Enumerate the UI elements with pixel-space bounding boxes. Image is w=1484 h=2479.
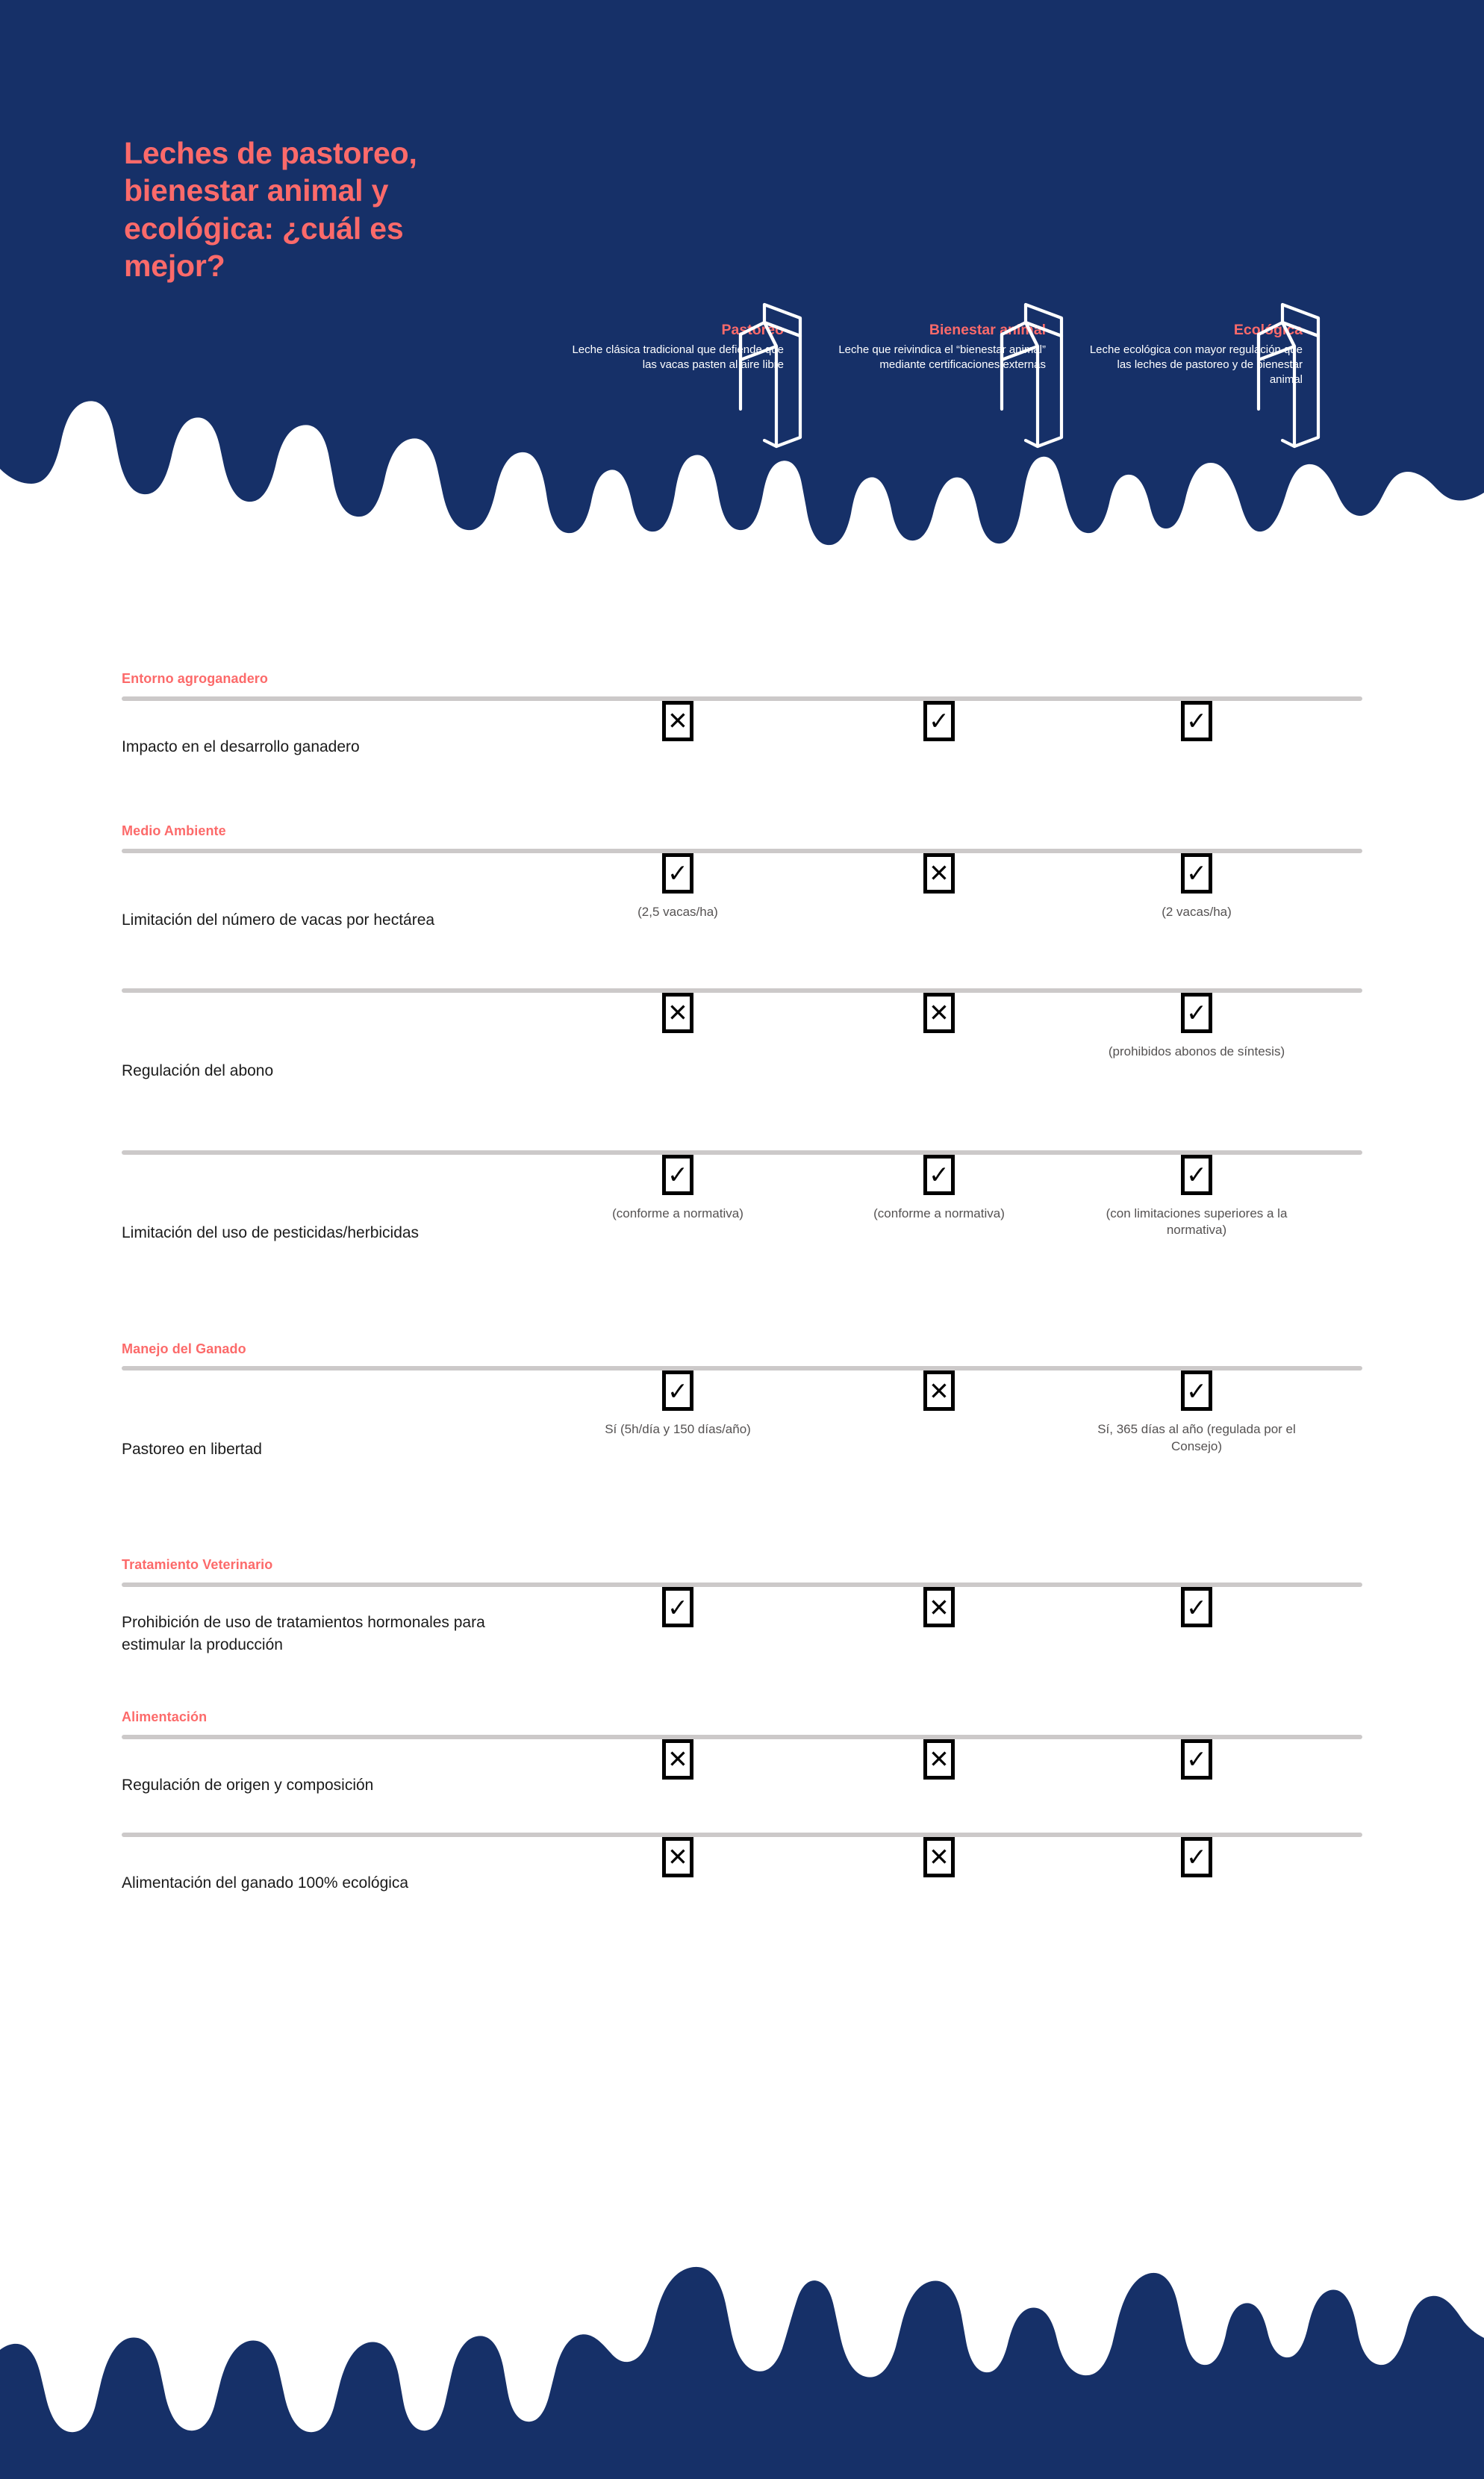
- checkbox-checked-icon: ✓: [1181, 1371, 1212, 1411]
- cell-pastoreo: ✓(conforme a normativa): [558, 1155, 797, 1223]
- checkbox-checked-icon: ✓: [1181, 993, 1212, 1033]
- row-label: Alimentación del ganado 100% ecológica: [122, 1873, 525, 1895]
- checkbox-checked-icon: ✓: [662, 1371, 693, 1411]
- milk-carton-icon: [1241, 297, 1324, 454]
- comparison-section: Manejo del GanadoPastoreo en libertad✓Sí…: [0, 1342, 1484, 1559]
- cell-pastoreo: ✓: [558, 1587, 797, 1627]
- row-label: Pastoreo en libertad: [122, 1438, 525, 1461]
- table-row-content: Limitación del uso de pesticidas/herbici…: [122, 1155, 1362, 1312]
- cell-bienestar-animal: ✓(conforme a normativa): [820, 1155, 1059, 1223]
- table-row: Limitación del uso de pesticidas/herbici…: [0, 1155, 1484, 1342]
- cell-note: (2,5 vacas/ha): [566, 904, 790, 921]
- checkbox-checked-icon: ✓: [1181, 1587, 1212, 1627]
- checkbox-checked-icon: ✓: [662, 1587, 693, 1627]
- table-row: Regulación del abono✕✕✓(prohibidos abono…: [0, 993, 1484, 1155]
- cell-ecológica: ✓(prohibidos abonos de síntesis): [1077, 993, 1316, 1061]
- cell-note: (conforme a normativa): [566, 1206, 790, 1223]
- cell-bienestar-animal: ✓: [820, 701, 1059, 741]
- comparison-section: Entorno agroganaderoImpacto en el desarr…: [0, 672, 1484, 824]
- cell-pastoreo: ✓(2,5 vacas/ha): [558, 853, 797, 921]
- section-spacer: [122, 1312, 1362, 1342]
- section-header: Alimentación: [0, 1710, 1484, 1739]
- checkbox-checked-icon: ✓: [662, 1155, 693, 1195]
- section-spacer: [122, 1930, 1362, 1960]
- cell-bienestar-animal: ✕: [820, 1371, 1059, 1411]
- table-row-content: Pastoreo en libertad✓Sí (5h/día y 150 dí…: [122, 1371, 1362, 1528]
- checkbox-cross-icon: ✕: [923, 1587, 955, 1627]
- cell-ecológica: ✓Sí, 365 días al año (regulada por el Co…: [1077, 1371, 1316, 1456]
- section-title: Tratamiento Veterinario: [122, 1558, 1362, 1573]
- row-label: Regulación de origen y composición: [122, 1775, 525, 1797]
- cell-pastoreo: ✕: [558, 701, 797, 741]
- section-spacer: [122, 1680, 1362, 1710]
- comparison-section: AlimentaciónRegulación de origen y compo…: [0, 1710, 1484, 1960]
- section-title: Entorno agroganadero: [122, 672, 1362, 687]
- cell-pastoreo: ✓Sí (5h/día y 150 días/año): [558, 1371, 797, 1438]
- row-label: Limitación del número de vacas por hectá…: [122, 909, 525, 932]
- checkbox-checked-icon: ✓: [1181, 1155, 1212, 1195]
- cell-ecológica: ✓: [1077, 701, 1316, 741]
- checkbox-cross-icon: ✕: [662, 1837, 693, 1877]
- section-spacer: [122, 794, 1362, 824]
- table-row: Pastoreo en libertad✓Sí (5h/día y 150 dí…: [0, 1371, 1484, 1558]
- cell-bienestar-animal: ✕: [820, 1587, 1059, 1627]
- section-header: Manejo del Ganado: [0, 1342, 1484, 1371]
- comparison-section: Tratamiento VeterinarioProhibición de us…: [0, 1558, 1484, 1710]
- cell-ecológica: ✓: [1077, 1739, 1316, 1780]
- milk-carton-icon: [984, 297, 1067, 454]
- table-row: Impacto en el desarrollo ganadero✕✓✓: [0, 701, 1484, 824]
- cell-note: Sí (5h/día y 150 días/año): [566, 1421, 790, 1438]
- cell-ecológica: ✓(2 vacas/ha): [1077, 853, 1316, 921]
- checkbox-cross-icon: ✕: [662, 1739, 693, 1780]
- hero-banner: Leches de pastoreo, bienestar animal y e…: [0, 0, 1484, 582]
- checkbox-checked-icon: ✓: [662, 853, 693, 894]
- table-row-content: Limitación del número de vacas por hectá…: [122, 853, 1362, 988]
- table-row: Limitación del número de vacas por hectá…: [0, 853, 1484, 993]
- milk-carton-icon: [723, 297, 806, 454]
- checkbox-cross-icon: ✕: [923, 1371, 955, 1411]
- table-row-content: Regulación de origen y composición✕✕✓: [122, 1739, 1362, 1833]
- table-row: Prohibición de uso de tratamientos hormo…: [0, 1587, 1484, 1710]
- cell-pastoreo: ✕: [558, 993, 797, 1033]
- checkbox-cross-icon: ✕: [923, 1837, 955, 1877]
- checkbox-checked-icon: ✓: [1181, 1837, 1212, 1877]
- row-label: Regulación del abono: [122, 1060, 525, 1082]
- section-title: Alimentación: [122, 1710, 1362, 1725]
- section-title: Medio Ambiente: [122, 824, 1362, 839]
- section-title: Manejo del Ganado: [122, 1342, 1362, 1357]
- checkbox-cross-icon: ✕: [923, 1739, 955, 1780]
- checkbox-checked-icon: ✓: [923, 1155, 955, 1195]
- section-spacer: [122, 1528, 1362, 1558]
- cell-note: (2 vacas/ha): [1085, 904, 1309, 921]
- row-label: Limitación del uso de pesticidas/herbici…: [122, 1222, 525, 1244]
- table-row-content: Prohibición de uso de tratamientos hormo…: [122, 1587, 1362, 1680]
- comparison-table: Entorno agroganaderoImpacto en el desarr…: [0, 672, 1484, 1960]
- checkbox-checked-icon: ✓: [1181, 1739, 1212, 1780]
- cell-note: (prohibidos abonos de síntesis): [1085, 1044, 1309, 1061]
- milk-drip-bottom-shape: [0, 2045, 1484, 2479]
- cell-ecológica: ✓(con limitaciones superiores a la norma…: [1077, 1155, 1316, 1240]
- checkbox-cross-icon: ✕: [923, 853, 955, 894]
- checkbox-checked-icon: ✓: [1181, 853, 1212, 894]
- section-header: Entorno agroganadero: [0, 672, 1484, 701]
- section-header: Tratamiento Veterinario: [0, 1558, 1484, 1587]
- cell-pastoreo: ✕: [558, 1837, 797, 1877]
- cell-ecológica: ✓: [1077, 1837, 1316, 1877]
- cell-bienestar-animal: ✕: [820, 853, 1059, 894]
- checkbox-cross-icon: ✕: [662, 993, 693, 1033]
- cell-note: (conforme a normativa): [827, 1206, 1051, 1223]
- cell-bienestar-animal: ✕: [820, 993, 1059, 1033]
- cell-bienestar-animal: ✕: [820, 1739, 1059, 1780]
- cell-pastoreo: ✕: [558, 1739, 797, 1780]
- table-row-content: Alimentación del ganado 100% ecológica✕✕…: [122, 1837, 1362, 1930]
- table-row-content: Impacto en el desarrollo ganadero✕✓✓: [122, 701, 1362, 794]
- checkbox-cross-icon: ✕: [923, 993, 955, 1033]
- section-header: Medio Ambiente: [0, 824, 1484, 853]
- checkbox-cross-icon: ✕: [662, 701, 693, 741]
- row-label: Prohibición de uso de tratamientos hormo…: [122, 1612, 525, 1656]
- table-row-content: Regulación del abono✕✕✓(prohibidos abono…: [122, 993, 1362, 1150]
- checkbox-checked-icon: ✓: [923, 701, 955, 741]
- checkbox-checked-icon: ✓: [1181, 701, 1212, 741]
- page-title: Leches de pastoreo, bienestar animal y e…: [124, 134, 512, 285]
- table-row: Regulación de origen y composición✕✕✓: [0, 1739, 1484, 1837]
- row-label: Impacto en el desarrollo ganadero: [122, 736, 525, 758]
- cell-note: Sí, 365 días al año (regulada por el Con…: [1085, 1421, 1309, 1456]
- table-row: Alimentación del ganado 100% ecológica✕✕…: [0, 1837, 1484, 1960]
- cell-ecológica: ✓: [1077, 1587, 1316, 1627]
- cell-note: (con limitaciones superiores a la normat…: [1085, 1206, 1309, 1240]
- comparison-section: Medio AmbienteLimitación del número de v…: [0, 824, 1484, 1342]
- cell-bienestar-animal: ✕: [820, 1837, 1059, 1877]
